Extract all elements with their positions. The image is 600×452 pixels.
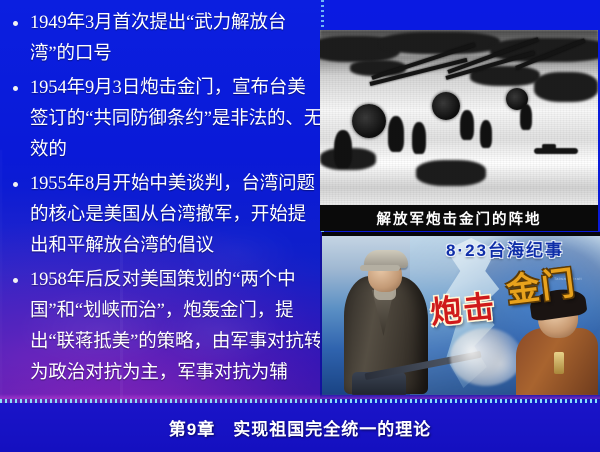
bullet-text: 1954年9月3日炮击金门，宣布台美签订的“共同防御条约”是非法的、无效的 xyxy=(30,73,324,166)
list-item: 1955年8月开始中美谈判，台湾问题的核心是美国从台湾撤军，开始提出和平解放台湾… xyxy=(6,169,324,262)
poster-title-gold: 金门 xyxy=(503,256,578,312)
bullet-text: 1958年后反对美国策划的“两个中国”和“划峡而治”，炮轰金门，提出“联蒋抵美”… xyxy=(30,265,324,389)
list-item: 1954年9月3日炮击金门，宣布台美签订的“共同防御条约”是非法的、无效的 xyxy=(6,73,324,166)
list-item: 1949年3月首次提出“武力解放台湾”的口号 xyxy=(6,8,324,70)
film-poster-image: Taiwan Strait Jinmen Dao Penghu Lie Pesc… xyxy=(320,232,600,400)
bullet-list: 1949年3月首次提出“武力解放台湾”的口号 1954年9月3日炮击金门，宣布台… xyxy=(6,8,324,396)
slide-footer: 第9章 实现祖国完全统一的理论 xyxy=(0,403,600,452)
bullet-text: 1955年8月开始中美谈判，台湾问题的核心是美国从台湾撤军，开始提出和平解放台湾… xyxy=(30,169,324,262)
footer-chapter-title: 第9章 实现祖国完全统一的理论 xyxy=(169,415,431,440)
poster-top-strip xyxy=(322,232,600,236)
list-item: 1958年后反对美国策划的“两个中国”和“划峡而治”，炮轰金门，提出“联蒋抵美”… xyxy=(6,265,324,389)
poster-title-red: 炮击 xyxy=(428,281,498,333)
presentation-slide: 1949年3月首次提出“武力解放台湾”的口号 1954年9月3日炮击金门，宣布台… xyxy=(0,0,600,452)
mao-figure-cap xyxy=(364,250,408,268)
photo-caption-text: 解放军炮击金门的阵地 xyxy=(377,208,542,229)
bullet-text: 1949年3月首次提出“武力解放台湾”的口号 xyxy=(30,8,324,70)
bullet-point-icon xyxy=(13,278,18,283)
historical-photo-artillery xyxy=(320,30,598,205)
photo-caption-bar: 解放军炮击金门的阵地 xyxy=(320,205,598,231)
bullet-point-icon xyxy=(13,21,18,26)
bullet-point-icon xyxy=(13,182,18,187)
poster-smoke-plume xyxy=(450,328,522,386)
photo-film-grain xyxy=(320,30,598,205)
chiang-figure-medal xyxy=(554,352,564,374)
bullet-point-icon xyxy=(13,86,18,91)
